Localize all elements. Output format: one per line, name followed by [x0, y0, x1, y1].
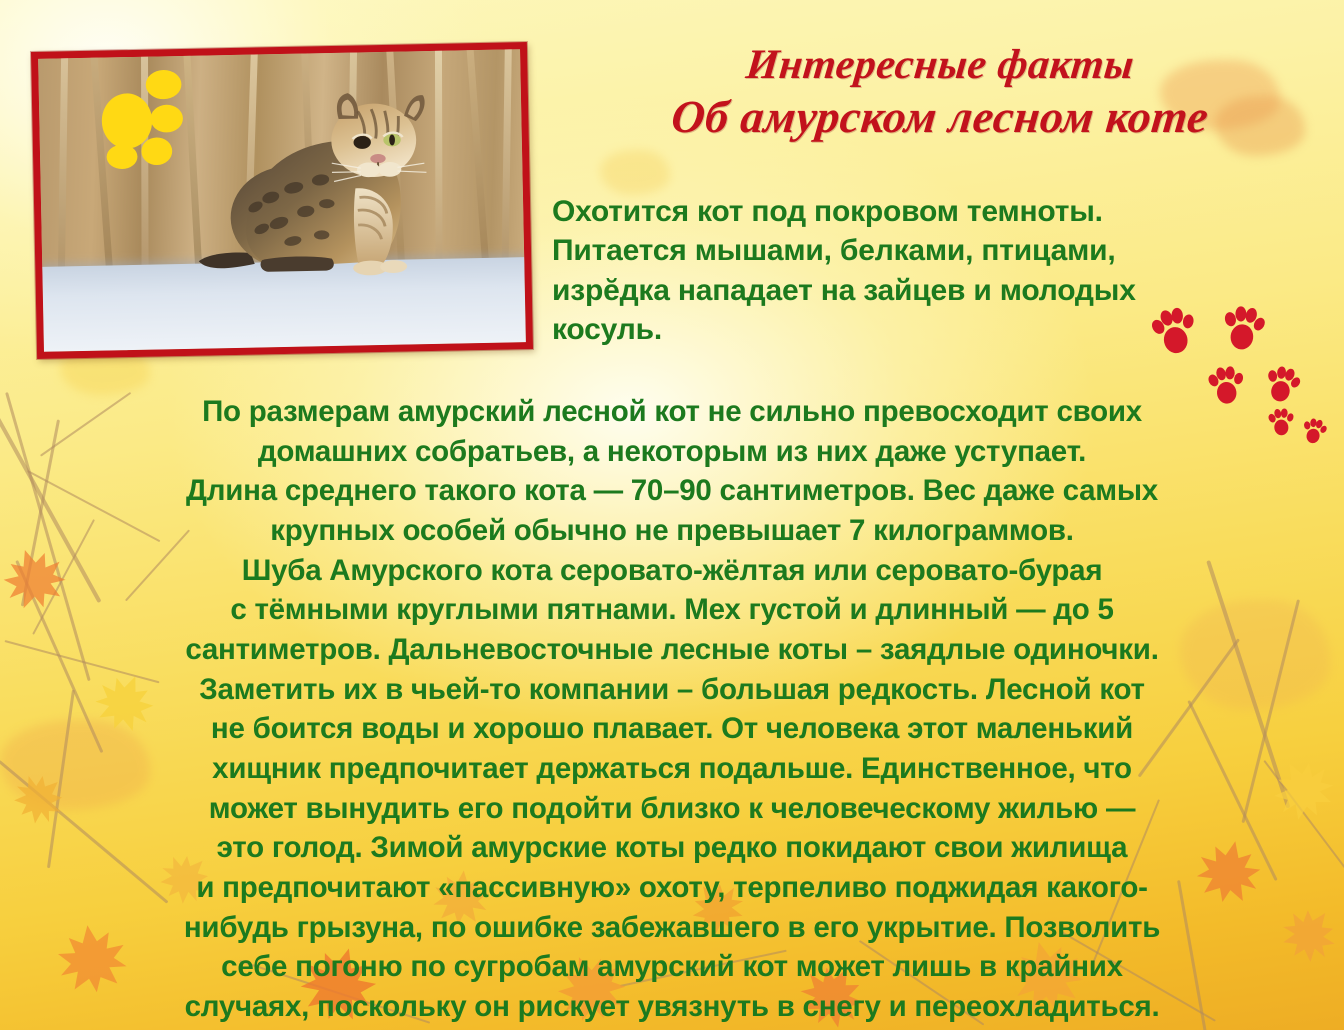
poster-title: Интересные факты Об амурском лесном коте — [560, 42, 1320, 143]
body-line: По размерам амурский лесной кот не сильн… — [26, 392, 1318, 432]
body-line: хищник предпочитает держаться подальше. … — [26, 749, 1318, 789]
cat-photo — [38, 49, 526, 352]
body-line: может вынудить его подойти близко к чело… — [26, 789, 1318, 829]
intro-line: Питается мышами, белками, птицами, — [552, 231, 1292, 270]
body-line: это голод. Зимой амурские коты редко пок… — [26, 828, 1318, 868]
amur-leopard-cat-illustration — [183, 86, 467, 303]
cat-photo-frame — [31, 42, 533, 359]
body-line: с тёмными круглыми пятнами. Мех густой и… — [26, 590, 1318, 630]
body-line: себе погоню по сугробам амурский кот мож… — [26, 947, 1318, 987]
body-line: и предпочитают «пассивную» охоту, терпел… — [26, 868, 1318, 908]
body-line: случаях, поскольку он рискует увязнуть в… — [26, 987, 1318, 1027]
intro-line: изрӗдка нападает на зайцев и молодых — [552, 271, 1292, 310]
intro-line: Охотится кот под покровом темноты. — [552, 192, 1292, 231]
title-line-1: Интересные факты — [558, 42, 1323, 89]
title-line-2: Об амурском лесном коте — [557, 91, 1322, 143]
body-line: Длина среднего такого кота — 70–90 санти… — [26, 471, 1318, 511]
red-paw-print-icon — [1219, 303, 1267, 354]
body-line: Шуба Амурского кота серовато-жёлтая или … — [26, 551, 1318, 591]
background-blotch — [600, 150, 670, 195]
body-line: нибудь грызуна, по ошибке забежавшего в … — [26, 908, 1318, 948]
body-line: Заметить их в чьей-то компании – большая… — [26, 670, 1318, 710]
body-line: не боится воды и хорошо плавает. От чело… — [26, 709, 1318, 749]
body-line: домашних собратьев, а некоторым из них д… — [26, 432, 1318, 472]
body-line: сантиметров. Дальневосточные лесные коты… — [26, 630, 1318, 670]
yellow-paw-print-icon — [72, 67, 223, 175]
body-line: крупных особей обычно не превышает 7 кил… — [26, 511, 1318, 551]
body-text-block: По размерам амурский лесной кот не сильн… — [26, 392, 1318, 1027]
poster-canvas: Интересные факты Об амурском лесном коте… — [0, 0, 1344, 1030]
